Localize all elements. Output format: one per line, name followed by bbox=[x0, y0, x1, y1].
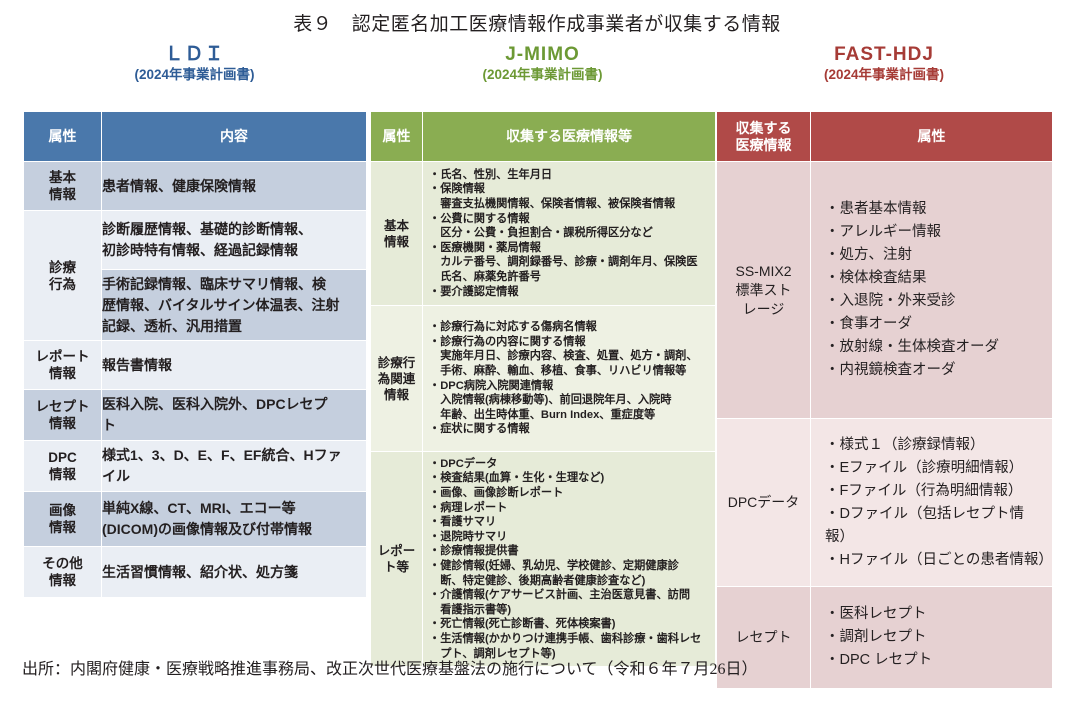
table-header-row: 収集する 医療情報 属性 bbox=[717, 112, 1053, 162]
heading-fast-hdj-sub: (2024年事業計画書) bbox=[716, 66, 1052, 84]
row-content: ・患者基本情報 ・アレルギー情報 ・処方、注射 ・検体検査結果 ・入退院・外来受… bbox=[811, 162, 1053, 419]
heading-jmimo: J-MIMO (2024年事業計画書) bbox=[370, 44, 715, 84]
row-attribute: 診療 行為 bbox=[24, 211, 102, 341]
row-attribute: レポー ト等 bbox=[371, 452, 423, 667]
table-fast-hdj: 収集する 医療情報 属性 SS-MIX2 標準スト レージ ・患者基本情報 ・ア… bbox=[716, 111, 1053, 689]
table-column-headings: ＬＤＩ (2024年事業計画書) J-MIMO (2024年事業計画書) FAS… bbox=[0, 44, 1074, 100]
row-content: 診断履歴情報、基礎的診断情報、 初診時特有情報、経過記録情報 bbox=[102, 211, 367, 270]
table-jmimo: 属性 収集する医療情報等 基本 情報 ・氏名、性別、生年月日 ・保険情報 審査支… bbox=[370, 111, 716, 667]
table-row: DPCデータ ・様式１（診療録情報） ・Eファイル（診療明細情報） ・Fファイル… bbox=[717, 419, 1053, 587]
heading-fast-hdj-name: FAST-HDJ bbox=[716, 44, 1052, 66]
table-header-row: 属性 収集する医療情報等 bbox=[371, 112, 716, 162]
heading-ldi-sub: (2024年事業計画書) bbox=[23, 66, 366, 84]
table-row: 基本 情報 ・氏名、性別、生年月日 ・保険情報 審査支払機関情報、保険者情報、被… bbox=[371, 162, 716, 306]
table-ldi: 属性 内容 基本 情報 患者情報、健康保険情報 診療 行為 診断履歴情報、基礎的… bbox=[23, 111, 367, 598]
row-content: 報告書情報 bbox=[102, 341, 367, 390]
row-attribute: DPCデータ bbox=[717, 419, 811, 587]
heading-jmimo-sub: (2024年事業計画書) bbox=[370, 66, 715, 84]
row-content: ・医科レセプト ・調剤レセプト ・DPC レセプト bbox=[811, 587, 1053, 689]
row-attribute: レポート 情報 bbox=[24, 341, 102, 390]
column-header-collected-info: 収集する 医療情報 bbox=[717, 112, 811, 162]
table-row: DPC 情報 様式1、3、D、E、F、EF統合、Hファ イル bbox=[24, 441, 367, 492]
page-title: 表９ 認定匿名加工医療情報作成事業者が収集する情報 bbox=[0, 0, 1074, 36]
row-content: 患者情報、健康保険情報 bbox=[102, 162, 367, 211]
row-attribute: 基本 情報 bbox=[371, 162, 423, 306]
row-attribute: 画像 情報 bbox=[24, 492, 102, 547]
row-content: ・DPCデータ ・検査結果(血算・生化・生理など) ・画像、画像診断レポート ・… bbox=[423, 452, 716, 667]
row-attribute: レセプト 情報 bbox=[24, 390, 102, 441]
heading-ldi: ＬＤＩ (2024年事業計画書) bbox=[23, 44, 366, 84]
row-content: 生活習慣情報、紹介状、処方箋 bbox=[102, 547, 367, 598]
column-header-attribute: 属性 bbox=[811, 112, 1053, 162]
column-header-content: 収集する医療情報等 bbox=[423, 112, 716, 162]
column-header-attribute: 属性 bbox=[371, 112, 423, 162]
row-content: 医科入院、医科入院外、DPCレセプ ト bbox=[102, 390, 367, 441]
table-row: レポート 情報 報告書情報 bbox=[24, 341, 367, 390]
row-attribute: その他 情報 bbox=[24, 547, 102, 598]
table-row: 基本 情報 患者情報、健康保険情報 bbox=[24, 162, 367, 211]
row-attribute: SS-MIX2 標準スト レージ bbox=[717, 162, 811, 419]
table-row: その他 情報 生活習慣情報、紹介状、処方箋 bbox=[24, 547, 367, 598]
source-note: 出所：内閣府健康・医療戦略推進事務局、改正次世代医療基盤法の施行について（令和６… bbox=[22, 655, 758, 679]
table-row: レセプト 情報 医科入院、医科入院外、DPCレセプ ト bbox=[24, 390, 367, 441]
row-content: 様式1、3、D、E、F、EF統合、Hファ イル bbox=[102, 441, 367, 492]
row-content: 手術記録情報、臨床サマリ情報、検 歴情報、バイタルサイン体温表、注射 記録、透析… bbox=[102, 270, 367, 341]
table-row: SS-MIX2 標準スト レージ ・患者基本情報 ・アレルギー情報 ・処方、注射… bbox=[717, 162, 1053, 419]
row-attribute: DPC 情報 bbox=[24, 441, 102, 492]
row-attribute: 診療行 為関連 情報 bbox=[371, 306, 423, 452]
heading-fast-hdj: FAST-HDJ (2024年事業計画書) bbox=[716, 44, 1052, 84]
row-attribute: 基本 情報 bbox=[24, 162, 102, 211]
heading-jmimo-name: J-MIMO bbox=[370, 44, 715, 66]
row-content: ・様式１（診療録情報） ・Eファイル（診療明細情報） ・Fファイル（行為明細情報… bbox=[811, 419, 1053, 587]
table-row: 診療行 為関連 情報 ・診療行為に対応する傷病名情報 ・診療行為の内容に関する情… bbox=[371, 306, 716, 452]
heading-ldi-name: ＬＤＩ bbox=[23, 44, 366, 66]
table-row: 画像 情報 単純X線、CT、MRI、エコー等 (DICOM)の画像情報及び付帯情… bbox=[24, 492, 367, 547]
row-content: ・診療行為に対応する傷病名情報 ・診療行為の内容に関する情報 実施年月日、診療内… bbox=[423, 306, 716, 452]
table-row: レセプト ・医科レセプト ・調剤レセプト ・DPC レセプト bbox=[717, 587, 1053, 689]
column-header-attribute: 属性 bbox=[24, 112, 102, 162]
table-row: レポー ト等 ・DPCデータ ・検査結果(血算・生化・生理など) ・画像、画像診… bbox=[371, 452, 716, 667]
table-header-row: 属性 内容 bbox=[24, 112, 367, 162]
column-header-content: 内容 bbox=[102, 112, 367, 162]
row-content: ・氏名、性別、生年月日 ・保険情報 審査支払機関情報、保険者情報、被保険者情報 … bbox=[423, 162, 716, 306]
row-content: 単純X線、CT、MRI、エコー等 (DICOM)の画像情報及び付帯情報 bbox=[102, 492, 367, 547]
table-row: 診療 行為 診断履歴情報、基礎的診断情報、 初診時特有情報、経過記録情報 bbox=[24, 211, 367, 270]
